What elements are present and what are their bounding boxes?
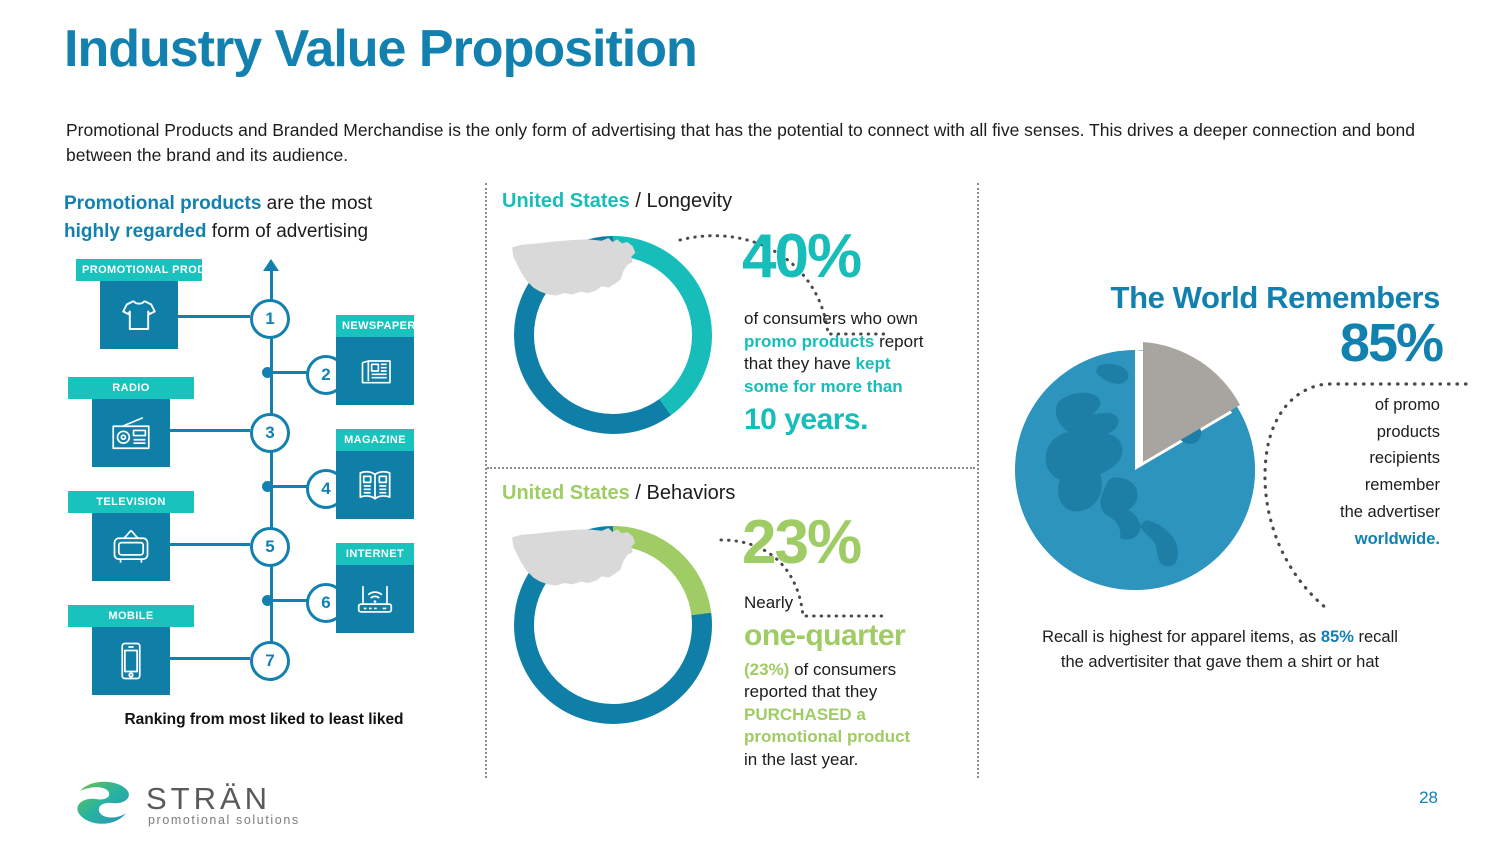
slide-root: Industry Value Proposition Promotional P… [0, 0, 1500, 843]
intro-paragraph: Promotional Products and Branded Merchan… [66, 118, 1436, 169]
recall-note: Recall is highest for apparel items, as … [985, 625, 1455, 675]
tile-internet: INTERNET [336, 543, 414, 633]
rank-item-magazine[interactable]: MAGAZINE [336, 429, 414, 519]
rank-number-3: 3 [250, 413, 290, 453]
rank-item-newspaper[interactable]: NEWSPAPER [336, 315, 414, 405]
behaviors-line-3: (23%) of consumers [744, 659, 964, 682]
behaviors-line-3-rest: of consumers [789, 660, 896, 679]
behaviors-line-6: promotional product [744, 726, 964, 749]
panel-longevity: United States / Longevity 40% of consume… [502, 190, 972, 213]
leader-line-world [1240, 370, 1470, 630]
longevity-line-2: promo products report [744, 331, 959, 354]
stran-logo-svg: STRÄN promotional solutions [72, 775, 332, 831]
longevity-percent: 40% [742, 228, 860, 287]
connector-line [170, 543, 250, 546]
panel-longevity-topic: Longevity [646, 190, 732, 212]
longevity-line-2-bold: promo products [744, 332, 874, 351]
stran-logo: STRÄN promotional solutions [72, 775, 332, 831]
tile-radio: RADIO [92, 377, 170, 467]
panel-behaviors-topic: Behaviors [646, 482, 735, 504]
behaviors-line-7: in the last year. [744, 749, 964, 772]
ranking-heading: Promotional products are the most highly… [64, 190, 464, 245]
longevity-body: of consumers who own promo products repo… [744, 308, 959, 440]
ranking-diagram: PROMOTIONAL PRODUCTS 1 2 NEWSPAPER [64, 259, 464, 709]
newspaper-icon [336, 337, 414, 405]
mobile-icon [92, 627, 170, 695]
radio-icon [92, 399, 170, 467]
router-icon [336, 565, 414, 633]
logo-wordmark: STRÄN [146, 781, 271, 816]
connector-line [272, 599, 308, 602]
globe-pie-chart [1000, 330, 1270, 600]
longevity-line-3-bold: kept [856, 354, 891, 373]
recall-note-pre: Recall is highest for apparel items, as [1042, 628, 1321, 646]
ranking-caption: Ranking from most liked to least liked [64, 711, 464, 729]
tshirt-icon [100, 281, 178, 349]
longevity-line-5: 10 years. [744, 400, 959, 440]
longevity-line-2-rest: report [874, 332, 923, 351]
panel-longevity-country: United States [502, 190, 630, 212]
panel-behaviors-heading: United States / Behaviors [502, 482, 972, 505]
page-title: Industry Value Proposition [64, 22, 697, 77]
magazine-icon [336, 451, 414, 519]
longevity-line-1: of consumers who own [744, 308, 959, 331]
behaviors-percent: 23% [742, 514, 860, 573]
world-remembers-title: The World Remembers [990, 280, 1440, 316]
connector-line [178, 315, 250, 318]
behaviors-line-4: reported that they [744, 681, 964, 704]
recall-note-post: the advertisiter that gave them a shirt … [1061, 653, 1379, 671]
behaviors-body: Nearly one-quarter (23%) of consumers re… [744, 592, 964, 772]
rank-item-mobile[interactable]: MOBILE [92, 605, 170, 695]
rank-number-7: 7 [250, 641, 290, 681]
tile-label: TELEVISION [68, 491, 194, 513]
panel-behaviors-separator: / [630, 482, 647, 504]
tile-mobile: MOBILE [92, 605, 170, 695]
connector-line [170, 429, 250, 432]
behaviors-line-2: one-quarter [744, 616, 964, 656]
tile-promotional-products: PROMOTIONAL PRODUCTS [100, 259, 178, 349]
rank-number-5: 5 [250, 527, 290, 567]
recall-note-mid: recall [1354, 628, 1398, 646]
longevity-line-3-rest: that they have [744, 354, 856, 373]
tile-newspaper: NEWSPAPER [336, 315, 414, 405]
tile-television: TELEVISION [92, 491, 170, 581]
us-map-icon [508, 520, 642, 600]
behaviors-line-3-bold: (23%) [744, 660, 789, 679]
rank-item-promotional-products[interactable]: PROMOTIONAL PRODUCTS [100, 259, 178, 349]
panel-behaviors: United States / Behaviors 23% Nearly one… [502, 482, 972, 505]
longevity-line-3: that they have kept [744, 353, 959, 376]
panel-behaviors-country: United States [502, 482, 630, 504]
rank-item-television[interactable]: TELEVISION [92, 491, 170, 581]
connector-line [272, 371, 308, 374]
tile-label: MAGAZINE [336, 429, 414, 451]
panel-longevity-heading: United States / Longevity [502, 190, 972, 213]
television-icon [92, 513, 170, 581]
recall-note-bold: 85% [1321, 628, 1354, 646]
panel-longevity-separator: / [630, 190, 647, 212]
logo-tagline: promotional solutions [148, 813, 300, 827]
ranking-heading-bold-2: highly regarded [64, 221, 207, 242]
tile-label: PROMOTIONAL PRODUCTS [76, 259, 202, 281]
tile-label: NEWSPAPER [336, 315, 414, 337]
ranking-column: Promotional products are the most highly… [64, 190, 464, 709]
divider-right-vertical [977, 183, 979, 778]
tile-magazine: MAGAZINE [336, 429, 414, 519]
divider-left-vertical [485, 183, 487, 778]
behaviors-line-5-bold: PURCHASED a [744, 705, 866, 724]
rank-number-1: 1 [250, 299, 290, 339]
connector-line [272, 485, 308, 488]
page-number: 28 [1419, 788, 1438, 808]
rank-item-radio[interactable]: RADIO [92, 377, 170, 467]
divider-middle-horizontal [487, 467, 975, 469]
behaviors-line-5: PURCHASED a [744, 704, 964, 727]
behaviors-line-1: Nearly [744, 592, 964, 615]
ranking-heading-rest-2: form of advertising [207, 221, 369, 242]
us-map-icon [508, 230, 642, 310]
longevity-line-4-bold: some for more than [744, 377, 903, 396]
ranking-heading-rest-1: are the most [261, 193, 372, 214]
connector-line [170, 657, 250, 660]
tile-label: RADIO [68, 377, 194, 399]
tile-label: INTERNET [336, 543, 414, 565]
tile-label: MOBILE [68, 605, 194, 627]
longevity-line-4: some for more than [744, 376, 959, 399]
behaviors-line-6-bold: promotional product [744, 727, 910, 746]
rank-item-internet[interactable]: INTERNET [336, 543, 414, 633]
ranking-heading-bold-1: Promotional products [64, 193, 261, 214]
